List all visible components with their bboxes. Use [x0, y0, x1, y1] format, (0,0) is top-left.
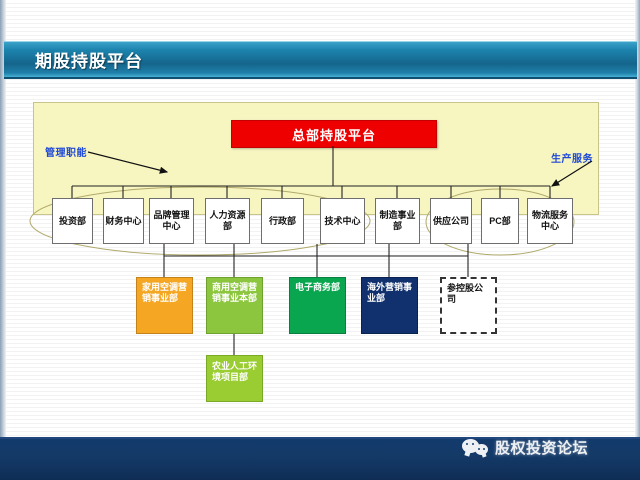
hq-platform-box: 总部持股平台: [231, 120, 437, 148]
dept-box-hr[interactable]: 人力资源部: [205, 198, 250, 244]
slide-title-bar: 期股持股平台: [4, 41, 637, 79]
slide-title: 期股持股平台: [35, 47, 143, 72]
dept-box-pc[interactable]: PC部: [481, 198, 519, 244]
dept-box-brand[interactable]: 品牌管理中心: [149, 198, 194, 244]
division-box-holding-companies[interactable]: 参控股公司: [440, 277, 497, 334]
watermark: 股权投资论坛: [462, 432, 637, 462]
division-box-home-ac[interactable]: 家用空调营销事业部: [136, 277, 193, 334]
watermark-text: 股权投资论坛: [495, 437, 588, 458]
subdivision-box-agriculture[interactable]: 农业人工环境项目部: [206, 355, 263, 402]
wechat-icon: [462, 438, 488, 457]
dept-box-technology[interactable]: 技术中心: [320, 198, 365, 244]
dept-box-supply[interactable]: 供应公司: [430, 198, 472, 244]
annotation-management-function: 管理职能: [45, 144, 87, 159]
annotation-production-service: 生产服务: [551, 150, 593, 165]
dept-box-admin[interactable]: 行政部: [261, 198, 304, 244]
division-box-commercial-ac[interactable]: 商用空调营销事业本部: [206, 277, 263, 334]
slide-canvas: 期股持股平台 总部持股平台 管理职能 生产服务: [0, 0, 640, 480]
division-box-ecommerce[interactable]: 电子商务部: [289, 277, 346, 334]
dept-box-logistics[interactable]: 物流服务中心: [527, 198, 573, 244]
dept-box-manufacturing[interactable]: 制造事业部: [375, 198, 420, 244]
division-box-overseas-marketing[interactable]: 海外营销事业部: [361, 277, 418, 334]
dept-box-finance[interactable]: 财务中心: [103, 198, 144, 244]
dept-box-investment[interactable]: 投资部: [52, 198, 93, 244]
